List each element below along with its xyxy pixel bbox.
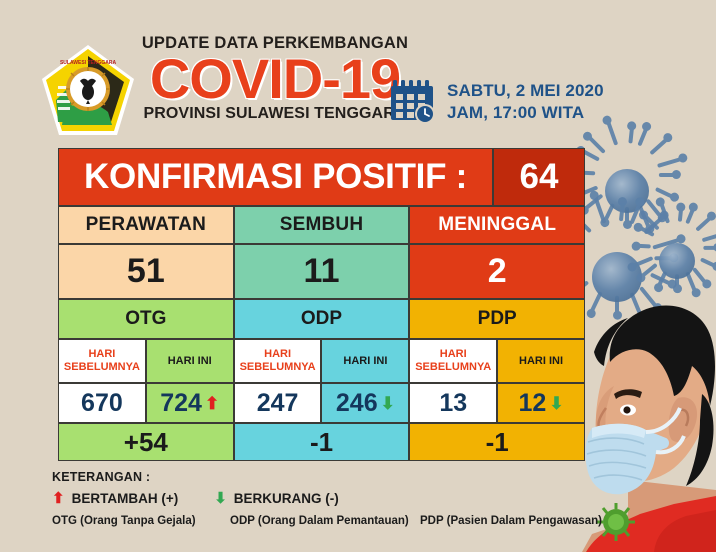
otg-prev-header: HARI SEBELUMNYA [58, 339, 146, 383]
legend-title: KETERANGAN : [52, 470, 612, 484]
virus-spikes [588, 152, 666, 230]
virus-body [659, 243, 695, 279]
abbreviation-otg: OTG (Orang Tanpa Gejala) [52, 515, 230, 527]
coronavirus-particle-large [588, 152, 666, 230]
legend-increase: ⬆ BERTAMBAH (+) [52, 491, 178, 506]
date-time-block: SABTU, 2 MEI 2020 JAM, 17:00 WITA [389, 78, 604, 126]
otg-today-value: 724 ⬆ [146, 383, 234, 423]
otg-prev-value: 670 [58, 383, 146, 423]
abbreviation-odp: ODP (Orang Dalam Pemantauan) [230, 515, 420, 527]
status-value-row: 51 11 2 [58, 244, 585, 299]
date-text: SABTU, 2 MEI 2020 [447, 80, 604, 102]
monitor-label-odp: ODP [234, 299, 410, 339]
pdp-today-value: 12 ⬇ [497, 383, 585, 423]
status-label-perawatan: PERAWATAN [58, 206, 234, 244]
status-label-meninggal: MENINGGAL [409, 206, 585, 244]
legend-section: KETERANGAN : ⬆ BERTAMBAH (+) ⬇ BERKURANG… [52, 470, 612, 527]
arrow-up-icon: ⬆ [205, 395, 219, 412]
odp-prev-number: 247 [257, 389, 299, 418]
sulawesi-tenggara-provincial-emblem: SULAWESI TENGGARA [38, 42, 138, 142]
statistics-table: KONFIRMASI POSITIF : 64 PERAWATAN SEMBUH… [58, 148, 585, 461]
time-text: JAM, 17:00 WITA [447, 102, 604, 124]
svg-text:SULAWESI TENGGARA: SULAWESI TENGGARA [60, 60, 117, 66]
odp-today-number: 246 [336, 389, 378, 418]
page-title: COVID-19 [140, 52, 410, 107]
abbreviation-row: OTG (Orang Tanpa Gejala) ODP (Orang Dala… [52, 515, 612, 527]
coronavirus-particle-small [644, 228, 710, 294]
monitor-label-otg: OTG [58, 299, 234, 339]
otg-today-number: 724 [160, 389, 202, 418]
monitor-difference-row: +54 -1 -1 [58, 423, 585, 461]
pdp-today-number: 12 [519, 389, 547, 418]
status-value-meninggal: 2 [409, 244, 585, 299]
confirmed-positive-banner: KONFIRMASI POSITIF : 64 [58, 148, 585, 206]
virus-body [592, 252, 642, 302]
pdp-prev-value: 13 [409, 383, 497, 423]
virus-body [605, 169, 649, 213]
pdp-prev-header: HARI SEBELUMNYA [409, 339, 497, 383]
confirmed-positive-value: 64 [493, 148, 585, 206]
legend-decrease: ⬇ BERKURANG (-) [214, 491, 339, 506]
confirmed-positive-label: KONFIRMASI POSITIF : [58, 148, 493, 206]
status-value-perawatan: 51 [58, 244, 234, 299]
monitor-number-row: 670 724 ⬆ 247 246 ⬇ 13 12 ⬇ [58, 383, 585, 423]
abbreviation-pdp: PDP (Pasien Dalam Pengawasan) [420, 515, 602, 527]
legend-increase-label: BERTAMBAH (+) [72, 491, 179, 506]
otg-today-header: HARI INI [146, 339, 234, 383]
arrow-down-icon: ⬇ [549, 395, 563, 412]
odp-today-value: 246 ⬇ [321, 383, 409, 423]
virus-spikes [644, 228, 710, 294]
odp-prev-value: 247 [234, 383, 322, 423]
pdp-difference: -1 [409, 423, 585, 461]
monitor-label-pdp: PDP [409, 299, 585, 339]
date-time-text: SABTU, 2 MEI 2020 JAM, 17:00 WITA [447, 80, 604, 124]
arrow-up-icon: ⬆ [52, 491, 65, 506]
pdp-prev-number: 13 [439, 389, 467, 418]
monitor-label-row: OTG ODP PDP [58, 299, 585, 339]
odp-today-header: HARI INI [321, 339, 409, 383]
status-value-sembuh: 11 [234, 244, 410, 299]
header-text-block: UPDATE DATA PERKEMBANGAN COVID-19 PROVIN… [140, 34, 410, 123]
odp-prev-header: HARI SEBELUMNYA [234, 339, 322, 383]
odp-difference: -1 [234, 423, 410, 461]
coronavirus-particle-medium [572, 232, 662, 322]
pdp-today-header: HARI INI [497, 339, 585, 383]
monitor-header-row: HARI SEBELUMNYA HARI INI HARI SEBELUMNYA… [58, 339, 585, 383]
arrow-down-icon: ⬇ [214, 491, 227, 506]
status-label-sembuh: SEMBUH [234, 206, 410, 244]
otg-difference: +54 [58, 423, 234, 461]
calendar-clock-icon [389, 78, 437, 126]
header-subtitle-bottom: PROVINSI SULAWESI TENGGARA [140, 105, 410, 123]
legend-decrease-label: BERKURANG (-) [234, 491, 339, 506]
arrow-down-icon: ⬇ [381, 395, 395, 412]
otg-prev-number: 670 [81, 389, 123, 418]
virus-spikes [572, 232, 662, 322]
status-label-row: PERAWATAN SEMBUH MENINGGAL [58, 206, 585, 244]
legend-items: ⬆ BERTAMBAH (+) ⬇ BERKURANG (-) [52, 491, 612, 506]
